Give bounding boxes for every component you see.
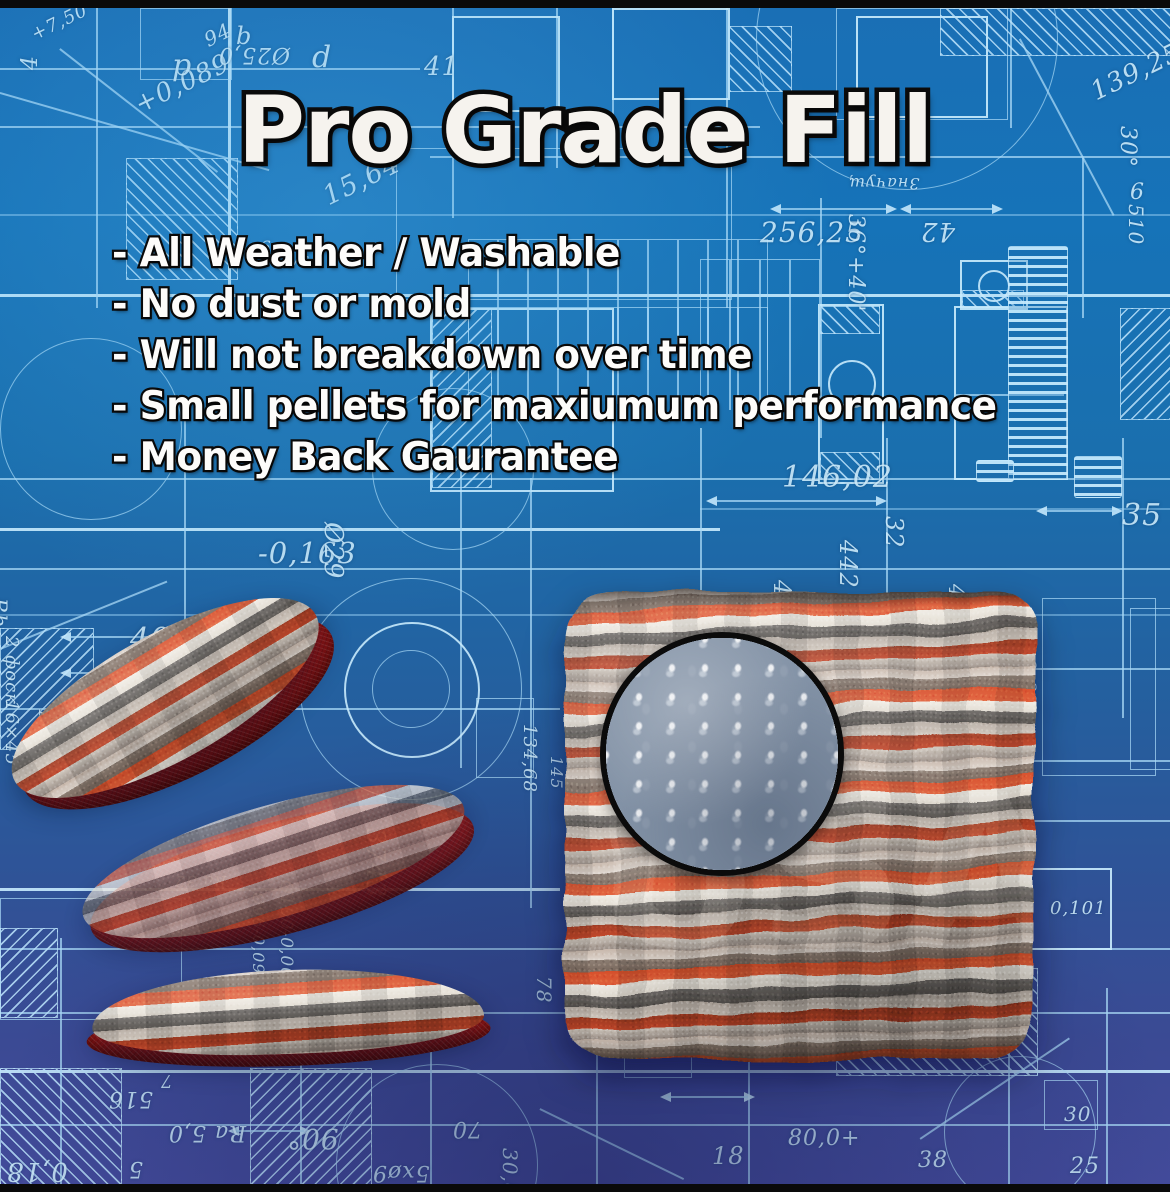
bag-bottom-seam: [565, 1040, 1035, 1060]
blueprint-label-41: 78: [532, 976, 556, 1003]
bag-top-seam: [565, 592, 1035, 608]
blueprint-label-21: 442: [834, 540, 862, 589]
blueprint-label-17: 30°: [1115, 126, 1140, 168]
fleece-fuzz-texture: [90, 963, 485, 1061]
product-promo-image: +0,0894+7,50pdb4194Ø25,015,6461/c256,253…: [0, 0, 1170, 1192]
blueprint-label-34: Rb: [0, 598, 12, 628]
blueprint-label-22: 32: [880, 516, 908, 549]
blueprint-label-9: 15,64: [318, 148, 406, 212]
blueprint-label-48: 80,0+: [788, 1126, 860, 1151]
pellet-closeup-inset: [600, 632, 844, 876]
blueprint-label-4: d: [312, 40, 332, 75]
blueprint-label-10: 6: [260, 238, 272, 258]
blueprint-label-29: Ø29: [318, 522, 348, 579]
blueprint-label-18: 6: [1130, 180, 1145, 205]
letterbox-bar-bottom: [0, 1184, 1170, 1192]
bean-bag-edge-view-3: [76, 941, 501, 1096]
blueprint-label-12: 256,25: [760, 216, 864, 249]
blueprint-label-13: 36°+40': [843, 214, 868, 312]
blueprint-label-40: 145: [547, 756, 566, 790]
blueprint-label-27: 35: [1122, 498, 1162, 533]
bean-bag-face-view: USA: [565, 592, 1035, 1060]
blueprint-label-19: 510: [1124, 204, 1148, 245]
blueprint-label-47: 18: [712, 1142, 745, 1170]
blueprint-label-2: +7,50: [28, 8, 91, 45]
blueprint-label-5: b: [236, 22, 252, 50]
blueprint-label-14: 42: [920, 216, 955, 246]
bag-fabric-face: [90, 963, 485, 1061]
pellet-inset-shading: [606, 638, 838, 870]
blueprint-label-54: 5: [128, 1156, 143, 1181]
letterbox-bar-top: [0, 0, 1170, 8]
blueprint-label-11: 1/c: [284, 250, 310, 268]
blueprint-label-46: 38: [918, 1148, 948, 1173]
